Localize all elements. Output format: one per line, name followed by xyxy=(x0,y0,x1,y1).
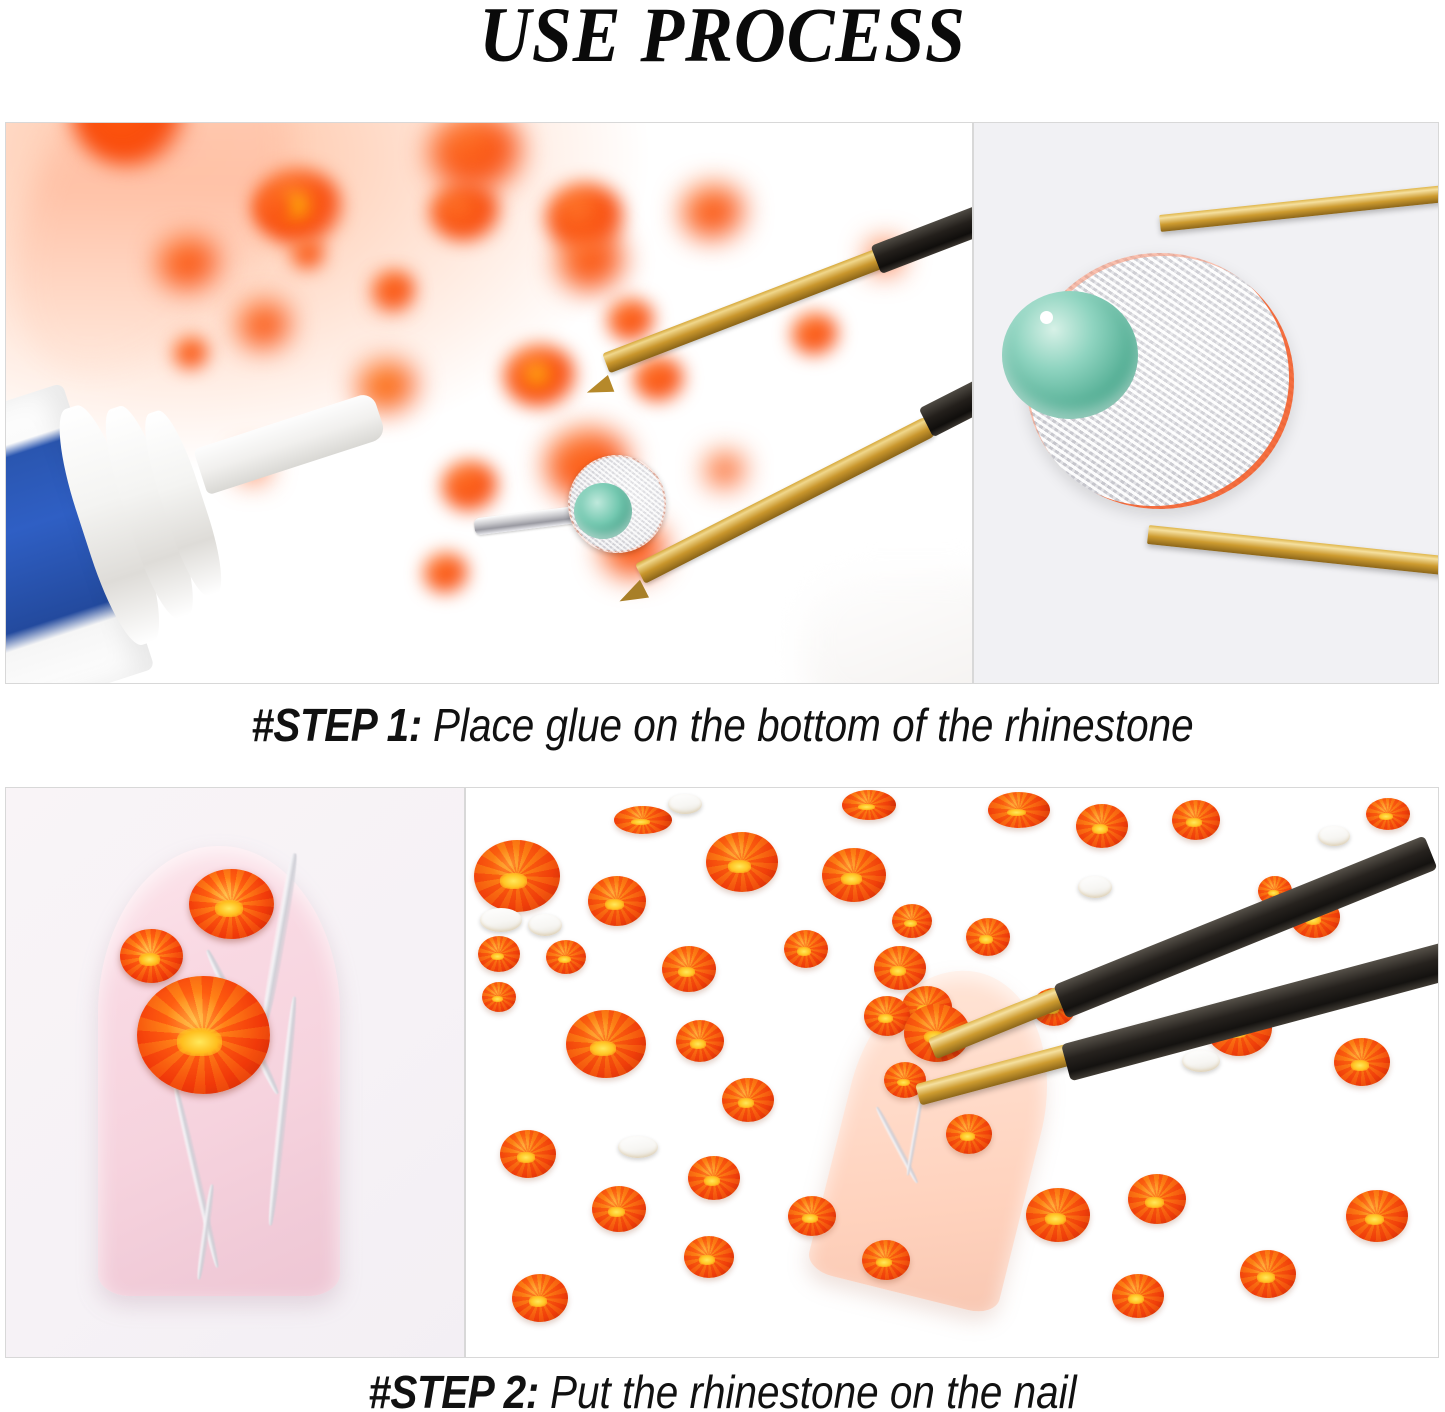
loose-rhinestone-flat-back xyxy=(1318,826,1350,846)
loose-rhinestone xyxy=(500,1130,556,1178)
loose-rhinestone xyxy=(566,1010,646,1078)
nail-rhinestone-large xyxy=(137,976,270,1094)
loose-rhinestone xyxy=(588,876,646,926)
step-2-image-row xyxy=(5,787,1439,1358)
finished-nail-photo xyxy=(5,787,465,1358)
loose-rhinestone xyxy=(1346,1190,1408,1242)
loose-rhinestone xyxy=(988,792,1050,828)
loose-rhinestone xyxy=(892,904,932,938)
nail-rhinestone-small xyxy=(120,929,183,983)
loose-rhinestone xyxy=(1240,1250,1296,1298)
blurred-rhinestone xyxy=(558,231,624,291)
step-1-label: #STEP 1: xyxy=(251,699,421,751)
page-title: USE PROCESS xyxy=(58,0,1387,74)
loose-rhinestone xyxy=(1076,804,1128,848)
blurred-white-object xyxy=(802,569,973,684)
step-2-caption: #STEP 2: Put the rhinestone on the nail xyxy=(87,1365,1359,1412)
loose-rhinestone xyxy=(688,1156,740,1200)
blurred-rhinestone xyxy=(706,453,744,487)
blurred-rhinestone xyxy=(792,313,838,355)
loose-rhinestone xyxy=(474,840,560,912)
loose-rhinestone-flat-back xyxy=(618,1136,658,1158)
rhinestone-closeup-photo xyxy=(973,122,1439,684)
loose-rhinestone-flat-back xyxy=(668,794,702,814)
blurred-rhinestone xyxy=(682,185,744,239)
blurred-rhinestone xyxy=(380,285,404,307)
glue-drop xyxy=(574,483,632,539)
loose-rhinestone xyxy=(684,1236,734,1278)
placing-rhinestone-photo xyxy=(465,787,1439,1358)
step-2-label: #STEP 2: xyxy=(368,1366,538,1412)
loose-rhinestone xyxy=(966,918,1010,956)
loose-rhinestone xyxy=(706,832,778,892)
loose-rhinestone xyxy=(1366,798,1410,830)
loose-rhinestone xyxy=(784,930,828,968)
nail-rhinestone-medium xyxy=(189,869,274,939)
loose-rhinestone xyxy=(662,946,716,992)
loose-rhinestone xyxy=(614,806,672,834)
loose-rhinestone xyxy=(1334,1038,1390,1086)
loose-rhinestone xyxy=(946,1114,992,1154)
loose-rhinestone xyxy=(478,936,520,972)
loose-rhinestone xyxy=(1112,1274,1164,1318)
blurred-rhinestone xyxy=(158,237,218,289)
glue-application-photo: R D xyxy=(5,122,973,684)
glue-bottle-tip xyxy=(193,391,387,495)
loose-rhinestone xyxy=(842,790,896,820)
glue-drop xyxy=(1002,291,1138,419)
loose-rhinestone xyxy=(722,1078,774,1122)
loose-rhinestone xyxy=(822,848,886,902)
loose-rhinestone-flat-back xyxy=(528,914,562,936)
blurred-rhinestone xyxy=(504,345,576,407)
blurred-rhinestone xyxy=(608,299,654,341)
step-1-text: Place glue on the bottom of the rhinesto… xyxy=(422,699,1194,751)
blurred-rhinestone xyxy=(430,183,500,241)
loose-rhinestone-flat-back xyxy=(1182,1050,1220,1072)
loose-rhinestone-flat-back xyxy=(1078,876,1112,898)
loose-rhinestone xyxy=(592,1186,646,1232)
loose-rhinestone xyxy=(862,1240,910,1280)
loose-rhinestone xyxy=(676,1020,724,1062)
step-1-caption: #STEP 1: Place glue on the bottom of the… xyxy=(87,698,1359,752)
blurred-rhinestone xyxy=(258,193,292,223)
blurred-rhinestone xyxy=(442,461,498,511)
nail-placed-rhinestone xyxy=(874,946,926,990)
blurred-rhinestone xyxy=(292,239,324,269)
loose-rhinestone xyxy=(482,982,516,1012)
use-process-infographic: USE PROCESS xyxy=(0,0,1445,1412)
loose-rhinestone-flat-back xyxy=(480,908,522,932)
step-2-text: Put the rhinestone on the nail xyxy=(539,1366,1077,1412)
blurred-rhinestone xyxy=(634,357,684,401)
glue-drop-highlight xyxy=(1040,311,1053,324)
loose-rhinestone xyxy=(512,1274,568,1322)
loose-rhinestone xyxy=(788,1196,836,1236)
blurred-rhinestone xyxy=(424,553,468,593)
step-1-image-row: R D xyxy=(5,122,1439,684)
loose-rhinestone xyxy=(1128,1174,1186,1224)
loose-rhinestone xyxy=(546,940,586,974)
loose-rhinestone xyxy=(1026,1188,1090,1242)
loose-rhinestone xyxy=(1172,800,1220,840)
